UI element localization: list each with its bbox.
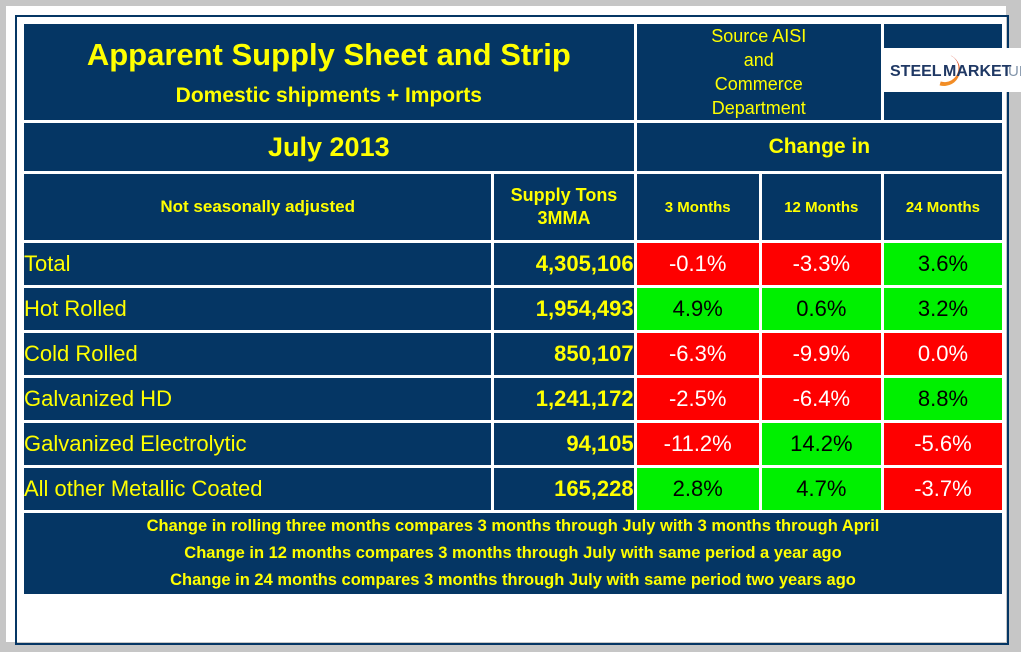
supply-tons-line-2: 3MMA — [494, 207, 633, 230]
table-row: Total 4,305,106 -0.1% -3.3% 3.6% — [24, 243, 1002, 285]
row-change-12-months: -6.4% — [762, 378, 881, 420]
row-change-12-months: -9.9% — [762, 333, 881, 375]
row-change-24-months: 8.8% — [884, 378, 1002, 420]
source-line-1: Source AISI — [637, 24, 881, 48]
row-change-24-months: -3.7% — [884, 468, 1002, 510]
source-line-3: Commerce — [637, 72, 881, 96]
apparent-supply-table: Apparent Supply Sheet and Strip Domestic… — [21, 21, 1005, 597]
row-change-3-months: 2.8% — [637, 468, 759, 510]
period-row: July 2013 Change in — [24, 123, 1002, 171]
source-line-4: Department — [637, 96, 881, 120]
footnote-line-2: Change in 12 months compares 3 months th… — [24, 540, 1002, 567]
logo-word-steel: STEEL — [890, 63, 942, 80]
source-line-2: and — [637, 48, 881, 72]
row-label: Galvanized Electrolytic — [24, 423, 491, 465]
footnote-line-1: Change in rolling three months compares … — [24, 513, 1002, 540]
row-change-24-months: -5.6% — [884, 423, 1002, 465]
change-in-group-label: Change in — [637, 123, 1002, 171]
row-change-3-months: -2.5% — [637, 378, 759, 420]
table-row: Galvanized Electrolytic 94,105 -11.2% 14… — [24, 423, 1002, 465]
row-label: Galvanized HD — [24, 378, 491, 420]
row-label: Total — [24, 243, 491, 285]
column-header-24-months: 24 Months — [884, 174, 1002, 240]
row-supply-tons: 4,305,106 — [494, 243, 633, 285]
row-change-24-months: 3.2% — [884, 288, 1002, 330]
row-label: Hot Rolled — [24, 288, 491, 330]
period-label: July 2013 — [24, 123, 634, 171]
row-change-3-months: -6.3% — [637, 333, 759, 375]
table-row: All other Metallic Coated 165,228 2.8% 4… — [24, 468, 1002, 510]
table-row: Cold Rolled 850,107 -6.3% -9.9% 0.0% — [24, 333, 1002, 375]
slide-canvas: Apparent Supply Sheet and Strip Domestic… — [6, 6, 1006, 642]
row-supply-tons: 165,228 — [494, 468, 633, 510]
column-header-3-months: 3 Months — [637, 174, 759, 240]
row-change-3-months: 4.9% — [637, 288, 759, 330]
logo-word-update: UPDATE — [1008, 63, 1021, 80]
row-change-12-months: 0.6% — [762, 288, 881, 330]
logo-cell: STEEL MARKET UPDATE — [884, 24, 1002, 120]
row-change-24-months: 0.0% — [884, 333, 1002, 375]
row-change-12-months: 4.7% — [762, 468, 881, 510]
row-change-12-months: -3.3% — [762, 243, 881, 285]
column-header-category: Not seasonally adjusted — [24, 174, 491, 240]
logo-word-market: MARKET — [943, 63, 1012, 80]
row-supply-tons: 1,241,172 — [494, 378, 633, 420]
supply-tons-line-1: Supply Tons — [494, 184, 633, 207]
page-title: Apparent Supply Sheet and Strip — [24, 35, 634, 75]
supply-table-container: Apparent Supply Sheet and Strip Domestic… — [21, 21, 1005, 639]
row-change-3-months: -11.2% — [637, 423, 759, 465]
row-change-3-months: -0.1% — [637, 243, 759, 285]
row-supply-tons: 1,954,493 — [494, 288, 633, 330]
row-supply-tons: 850,107 — [494, 333, 633, 375]
footnote-row: Change in rolling three months compares … — [24, 513, 1002, 593]
row-supply-tons: 94,105 — [494, 423, 633, 465]
footnote-line-3: Change in 24 months compares 3 months th… — [24, 567, 1002, 594]
steel-market-update-logo: STEEL MARKET UPDATE — [884, 48, 1021, 92]
row-label: All other Metallic Coated — [24, 468, 491, 510]
footnote-block: Change in rolling three months compares … — [24, 513, 1002, 593]
column-header-supply-tons: Supply Tons 3MMA — [494, 174, 633, 240]
column-header-12-months: 12 Months — [762, 174, 881, 240]
title-block: Apparent Supply Sheet and Strip Domestic… — [24, 24, 634, 120]
row-change-12-months: 14.2% — [762, 423, 881, 465]
table-row: Hot Rolled 1,954,493 4.9% 0.6% 3.2% — [24, 288, 1002, 330]
page-subtitle: Domestic shipments + Imports — [24, 82, 634, 109]
source-note: Source AISI and Commerce Department — [637, 24, 881, 120]
row-label: Cold Rolled — [24, 333, 491, 375]
title-row: Apparent Supply Sheet and Strip Domestic… — [24, 24, 1002, 120]
table-row: Galvanized HD 1,241,172 -2.5% -6.4% 8.8% — [24, 378, 1002, 420]
row-change-24-months: 3.6% — [884, 243, 1002, 285]
column-header-row: Not seasonally adjusted Supply Tons 3MMA… — [24, 174, 1002, 240]
